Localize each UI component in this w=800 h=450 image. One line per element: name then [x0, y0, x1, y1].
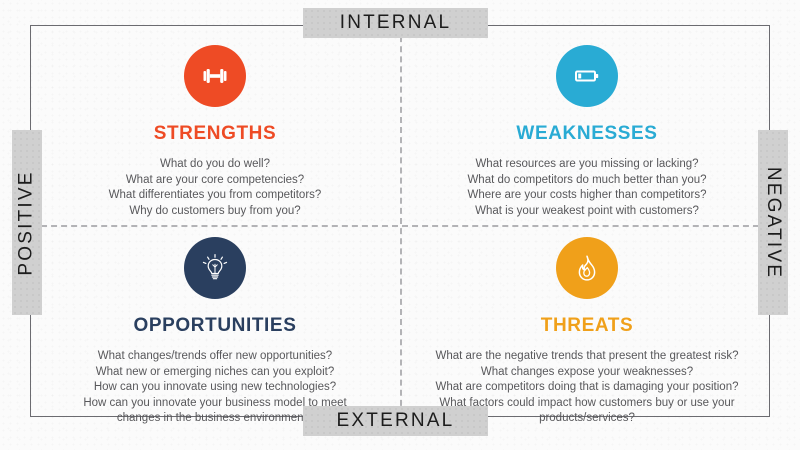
opportunities-item: What new or emerging niches can you expl…: [65, 365, 365, 381]
strengths-item: What differentiates you from competitors…: [65, 188, 365, 204]
axis-label-positive: POSITIVE: [12, 130, 42, 315]
axis-label-negative-text: NEGATIVE: [762, 166, 784, 278]
weaknesses-item: What do competitors do much better than …: [427, 173, 747, 189]
weaknesses-title: WEAKNESSES: [516, 123, 657, 145]
strengths-item: What are your core competencies?: [65, 173, 365, 189]
threats-badge: [556, 237, 618, 299]
opportunities-title: OPPORTUNITIES: [134, 315, 297, 337]
axis-label-internal-text: INTERNAL: [340, 12, 452, 34]
axis-label-negative: NEGATIVE: [758, 130, 788, 315]
weaknesses-item: What is your weakest point with customer…: [427, 204, 747, 220]
strengths-title: STRENGTHS: [154, 123, 277, 145]
axis-label-internal: INTERNAL: [303, 8, 488, 38]
lightbulb-icon: [199, 252, 231, 284]
strengths-item: What do you do well?: [65, 157, 365, 173]
quadrant-threats: THREATS What are the negative trends tha…: [412, 237, 762, 427]
swot-diagram: INTERNAL EXTERNAL POSITIVE NEGATIVE STRE…: [0, 0, 800, 450]
weaknesses-items: What resources are you missing or lackin…: [427, 157, 747, 219]
opportunities-item: What changes/trends offer new opportunit…: [65, 349, 365, 365]
horizontal-divider: [31, 225, 769, 227]
opportunities-item: How can you innovate using new technolog…: [65, 380, 365, 396]
strengths-items: What do you do well? What are your core …: [65, 157, 365, 219]
dumbbell-icon: [200, 61, 230, 91]
threats-item: What are competitors doing that is damag…: [427, 380, 747, 396]
strengths-badge: [184, 45, 246, 107]
quadrant-opportunities: OPPORTUNITIES What changes/trends offer …: [40, 237, 390, 427]
low-battery-icon: [572, 61, 602, 91]
opportunities-badge: [184, 237, 246, 299]
axis-label-external: EXTERNAL: [303, 406, 488, 436]
weaknesses-item: Where are your costs higher than competi…: [427, 188, 747, 204]
weaknesses-item: What resources are you missing or lackin…: [427, 157, 747, 173]
threats-title: THREATS: [541, 315, 634, 337]
axis-label-positive-text: POSITIVE: [16, 170, 38, 275]
strengths-item: Why do customers buy from you?: [65, 204, 365, 220]
vertical-divider: [400, 26, 402, 416]
flame-icon: [571, 252, 603, 284]
weaknesses-badge: [556, 45, 618, 107]
quadrant-weaknesses: WEAKNESSES What resources are you missin…: [412, 45, 762, 219]
axis-label-external-text: EXTERNAL: [337, 410, 455, 432]
threats-item: What are the negative trends that presen…: [427, 349, 747, 365]
threats-item: What changes expose your weaknesses?: [427, 365, 747, 381]
quadrant-strengths: STRENGTHS What do you do well? What are …: [40, 45, 390, 219]
